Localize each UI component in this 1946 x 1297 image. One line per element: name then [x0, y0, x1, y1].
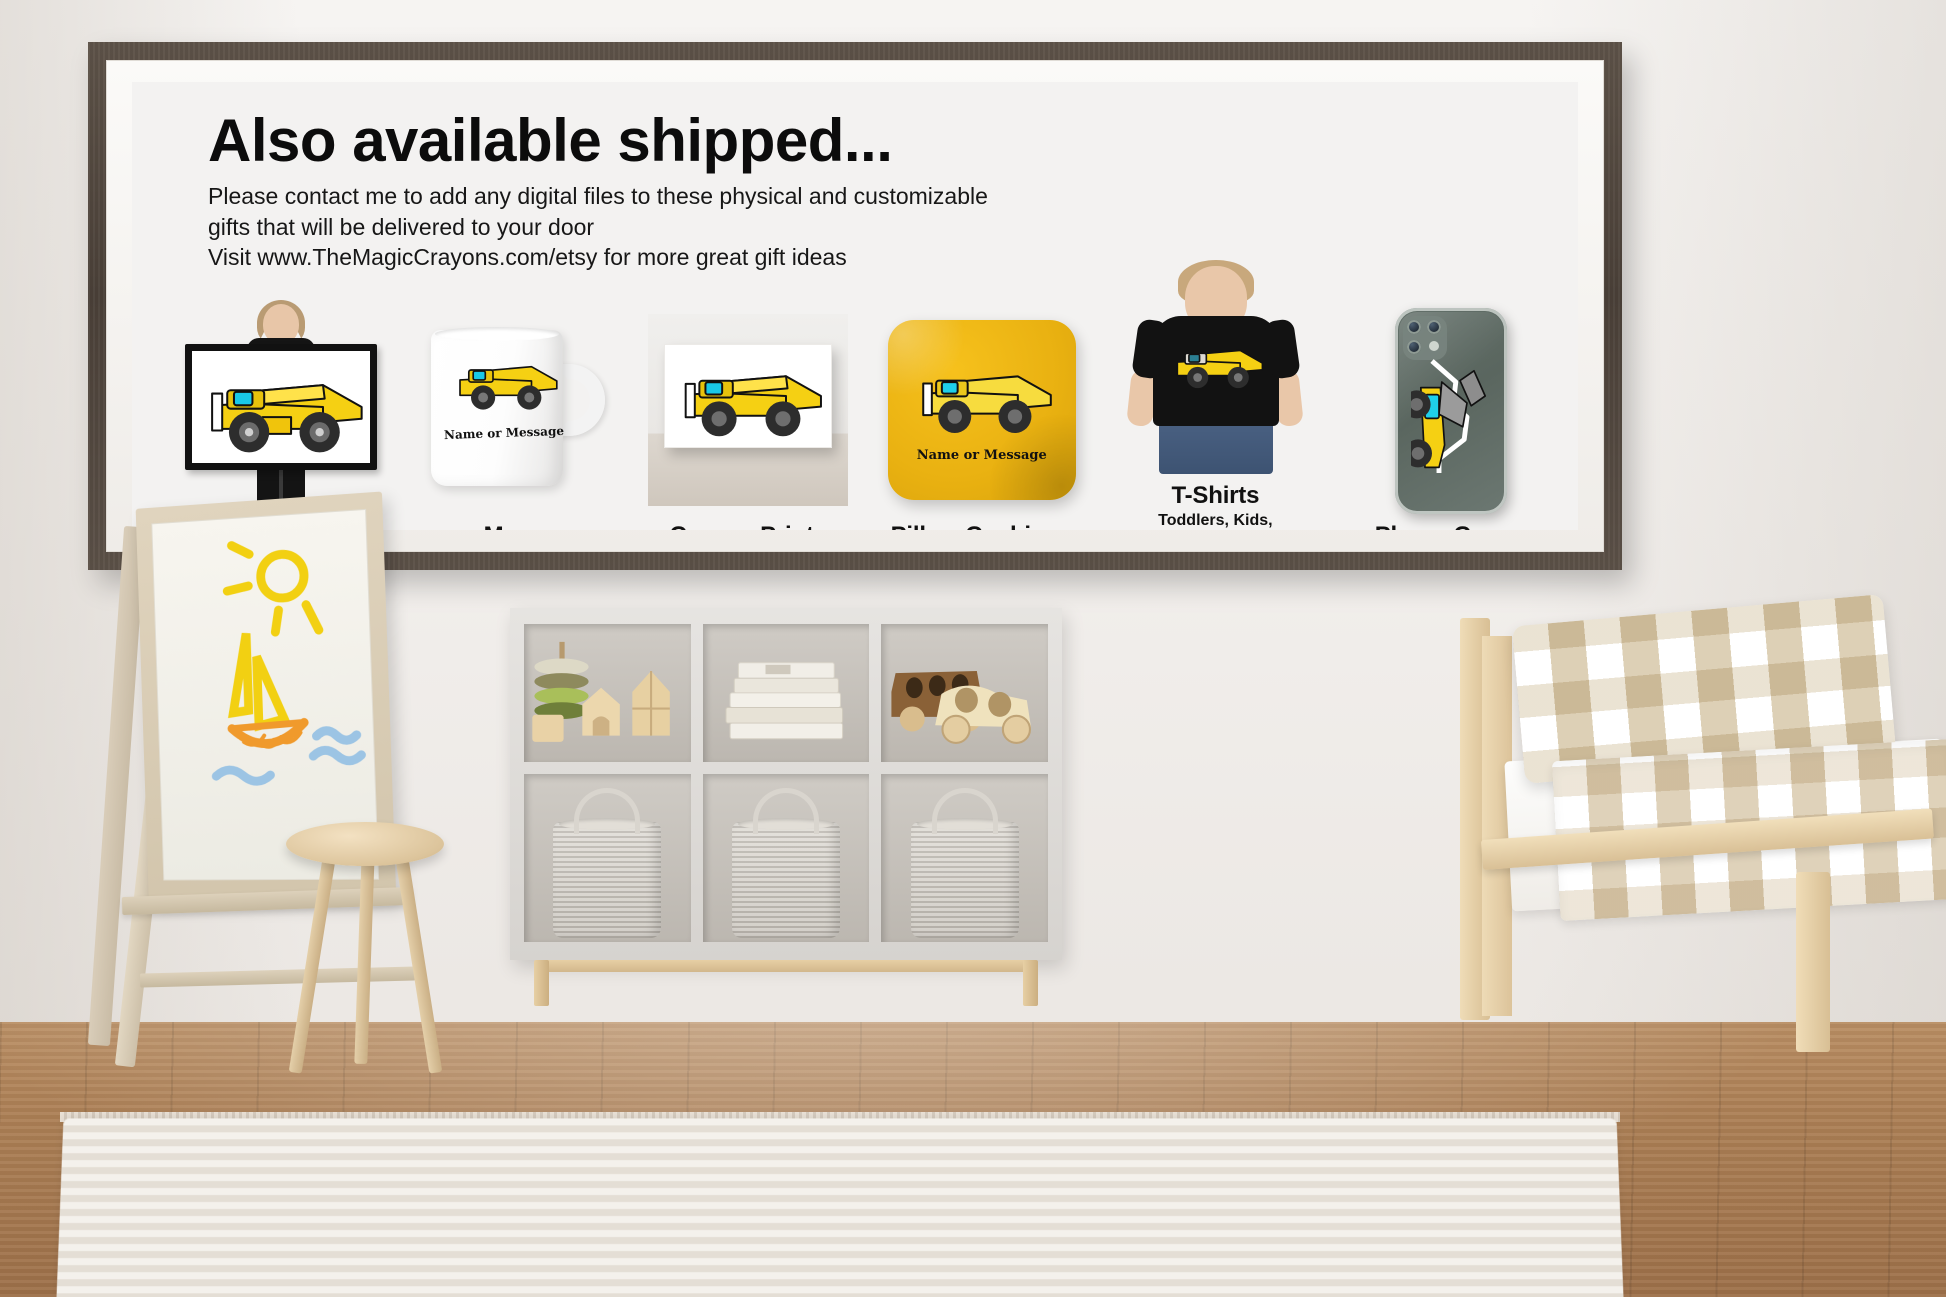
black-t-shirt — [1153, 316, 1279, 426]
yellow-dump-truck-icon — [197, 355, 365, 459]
mug-imprint-text: Name or Message — [440, 424, 566, 442]
stack-of-books — [703, 624, 870, 762]
basket-handle — [753, 788, 819, 834]
shelf-leg — [1023, 960, 1038, 1006]
product-label: T-Shirts — [1172, 482, 1260, 510]
product-label: Pillow Cushions — [891, 522, 1073, 530]
phone-case-image — [1349, 310, 1549, 510]
toddler-model — [1133, 266, 1297, 474]
product-phone-cases: Phone Cases — [1340, 310, 1558, 530]
t-shirt-image — [1115, 270, 1315, 470]
frame-mat: Also available shipped... Please contact… — [106, 60, 1604, 552]
pillow-cushion-image: Name or Message — [882, 310, 1082, 510]
childs-bed — [1460, 600, 1946, 1070]
wooden-blocks-and-rings — [524, 624, 691, 762]
iphone-case — [1395, 308, 1507, 514]
camera-lens — [1407, 320, 1421, 334]
basket-handle — [932, 788, 998, 834]
yellow-dump-truck-icon — [1167, 334, 1265, 392]
framed-poster-image — [181, 310, 381, 510]
stool-seat — [286, 822, 444, 866]
subtitle-line-1: Please contact me to add any digital fil… — [208, 181, 1208, 212]
wooden-toy-cars — [881, 624, 1048, 762]
cube-wooden-toys — [524, 624, 691, 762]
page-title: Also available shipped... — [208, 110, 1208, 171]
bed-post — [1796, 872, 1830, 1052]
mug-body: Name or Message — [431, 330, 563, 486]
product-pillow-cushions: Name or Message Pillow Cushions — [873, 310, 1091, 530]
cube-books — [703, 624, 870, 762]
yellow-dump-truck-icon — [672, 350, 824, 442]
poster-header: Also available shipped... Please contact… — [208, 110, 1208, 273]
camera-lens — [1427, 320, 1441, 334]
throw-pillow: Name or Message — [888, 320, 1076, 500]
woven-basket — [911, 822, 1019, 938]
cube-storage-shelf — [510, 608, 1062, 960]
yellow-dump-truck-icon — [445, 348, 563, 414]
stool-leg — [395, 852, 443, 1073]
shelf-legs — [530, 960, 1042, 1008]
product-label: Canvas Prints — [669, 522, 826, 530]
poster-artwork: Also available shipped... Please contact… — [132, 82, 1578, 530]
cube-basket-with-ball — [524, 774, 691, 942]
canvas-print-image — [648, 310, 848, 510]
cube-basket-with-blocks — [881, 774, 1048, 942]
canvas-panel — [664, 344, 832, 448]
pillow-imprint-text: Name or Message — [888, 448, 1076, 463]
jeans — [1159, 418, 1273, 474]
product-sublabel: Toddlers, Kids,Mens, Woman’s — [1155, 512, 1275, 530]
stool-leg — [354, 852, 374, 1064]
mug-image: Name or Message — [415, 310, 615, 510]
shelf-leg — [534, 960, 549, 1006]
shelf-cubes — [524, 624, 1048, 942]
woven-basket — [732, 822, 840, 938]
shelf-base-rail — [540, 960, 1032, 972]
yellow-front-loader-icon — [1411, 342, 1495, 492]
area-rug — [57, 1118, 1624, 1297]
product-mugs: Name or Message Mugs — [406, 310, 624, 530]
yellow-dump-truck-icon — [906, 352, 1058, 438]
poster-frame — [185, 344, 377, 470]
product-label: Phone Cases — [1375, 522, 1524, 530]
framed-wall-art: Also available shipped... Please contact… — [88, 42, 1622, 570]
cube-basket — [703, 774, 870, 942]
shelf-carcass — [510, 608, 1062, 960]
cube-toy-cars — [881, 624, 1048, 762]
product-canvas-prints: Canvas Prints — [639, 310, 857, 530]
canvas-room-scene — [648, 314, 848, 506]
product-label: Mugs — [484, 522, 546, 530]
subtitle-line-3: Visit www.TheMagicCrayons.com/etsy for m… — [208, 242, 1208, 273]
woven-basket — [553, 822, 661, 938]
basket-handle — [574, 788, 640, 834]
stool-leg — [289, 852, 337, 1073]
product-t-shirts: T-Shirts Toddlers, Kids,Mens, Woman’s — [1106, 270, 1324, 530]
subtitle-line-2: gifts that will be delivered to your doo… — [208, 212, 1208, 243]
wooden-stool — [286, 822, 444, 1082]
coffee-mug: Name or Message — [425, 330, 605, 490]
poster-subtitle: Please contact me to add any digital fil… — [208, 181, 1208, 273]
bedroom-scene: Also available shipped... Please contact… — [0, 0, 1946, 1297]
